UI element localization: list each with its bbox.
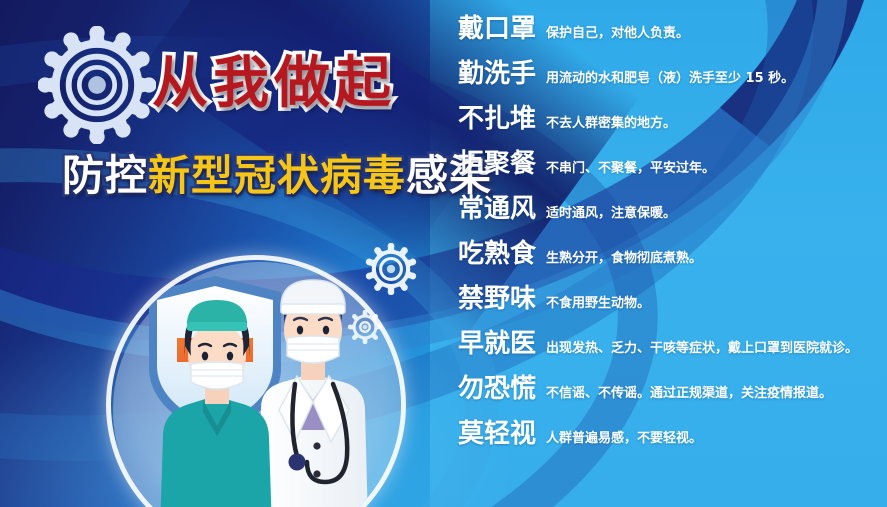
- tip-row-4: 拒聚餐 不串门、不聚餐，平安过年。: [458, 151, 883, 196]
- tip-heading: 拒聚餐: [458, 151, 546, 177]
- tip-row-9: 勿恐慌 不信谣、不传谣。通过正规渠道，关注疫情报道。: [458, 376, 883, 421]
- poster-subheadline: 防控新型冠状病毒感染: [62, 152, 492, 200]
- tip-heading: 不扎堆: [458, 106, 546, 132]
- tip-description: 生熟分开，食物彻底煮熟。: [546, 247, 883, 266]
- tip-description: 不食用野生动物。: [546, 292, 883, 311]
- tip-heading: 戴口罩: [458, 16, 546, 42]
- tip-description: 人群普遍易感，不要轻视。: [546, 427, 883, 446]
- covid-prevention-poster: 从我做起 防控新型冠状病毒感染: [0, 0, 887, 507]
- tip-heading: 吃熟食: [458, 241, 546, 267]
- illustration-circle-ring: [106, 255, 406, 507]
- tip-row-3: 不扎堆 不去人群密集的地方。: [458, 106, 883, 151]
- tip-heading: 早就医: [458, 331, 546, 357]
- tip-description: 不去人群密集的地方。: [546, 112, 883, 131]
- tip-heading: 常通风: [458, 196, 546, 222]
- tip-row-5: 常通风 适时通风，注意保暖。: [458, 196, 883, 241]
- tip-description: 保护自己，对他人负责。: [546, 22, 883, 41]
- prevention-tips-list: 戴口罩 保护自己，对他人负责。 勤洗手 用流动的水和肥皂（液）洗手至少 15 秒…: [458, 16, 883, 466]
- tip-description: 不信谣、不传谣。通过正规渠道，关注疫情报道。: [546, 382, 883, 401]
- tip-description: 出现发热、乏力、干咳等症状，戴上口罩到医院就诊。: [546, 337, 883, 356]
- tip-description: 适时通风，注意保暖。: [546, 202, 883, 221]
- tip-heading: 禁野味: [458, 286, 546, 312]
- tip-description: 用流动的水和肥皂（液）洗手至少 15 秒。: [546, 67, 883, 86]
- tip-heading: 莫轻视: [458, 421, 546, 447]
- medical-illustration: [92, 243, 422, 507]
- tip-description: 不串门、不聚餐，平安过年。: [546, 157, 883, 176]
- tip-row-7: 禁野味 不食用野生动物。: [458, 286, 883, 331]
- virus-icon-large: [38, 26, 156, 144]
- poster-headline: 从我做起: [152, 56, 396, 112]
- subheadline-part-1: 防控: [62, 151, 148, 200]
- tip-row-6: 吃熟食 生熟分开，食物彻底煮熟。: [458, 241, 883, 286]
- tip-row-1: 戴口罩 保护自己，对他人负责。: [458, 16, 883, 61]
- tip-heading: 勿恐慌: [458, 376, 546, 402]
- tip-row-2: 勤洗手 用流动的水和肥皂（液）洗手至少 15 秒。: [458, 61, 883, 106]
- tip-row-8: 早就医 出现发热、乏力、干咳等症状，戴上口罩到医院就诊。: [458, 331, 883, 376]
- subheadline-part-2: 新型冠状病毒: [148, 151, 406, 200]
- tip-heading: 勤洗手: [458, 61, 546, 87]
- tip-row-10: 莫轻视 人群普遍易感，不要轻视。: [458, 421, 883, 466]
